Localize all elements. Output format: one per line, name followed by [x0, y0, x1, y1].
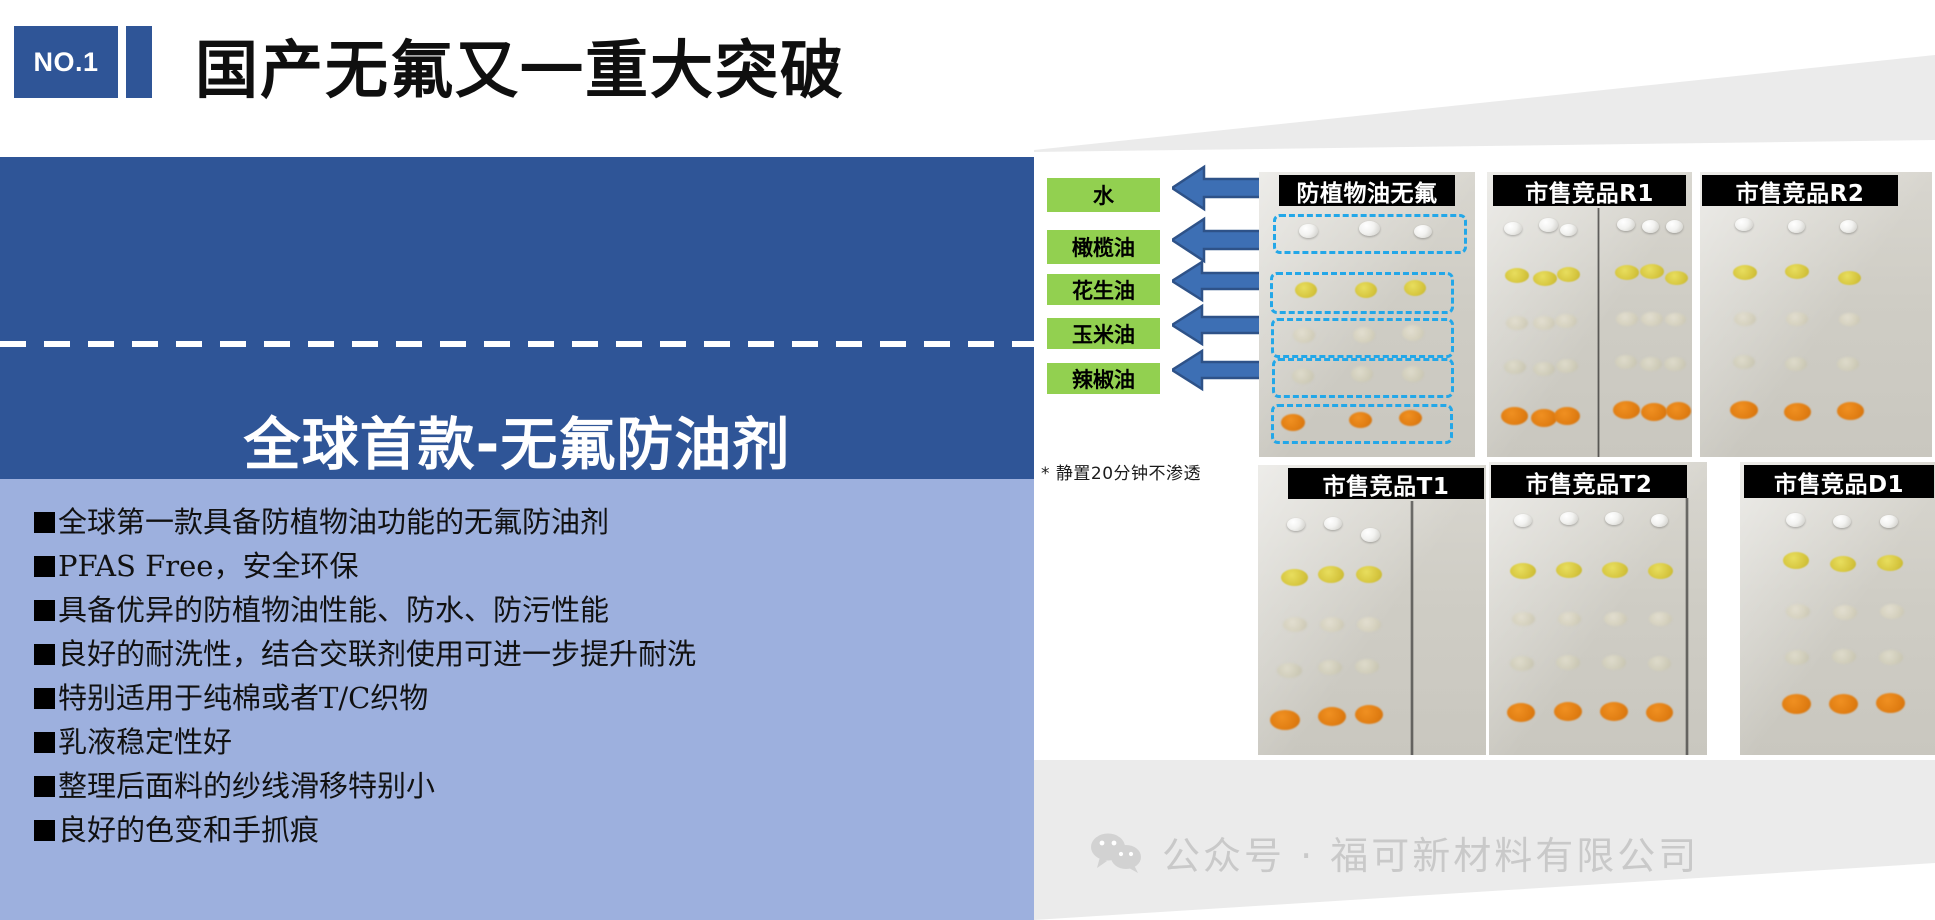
- droplet-water: [1833, 515, 1851, 528]
- feature-text: 特别适用于纯棉或者T/C织物: [58, 677, 428, 719]
- panel-title: 市售竞品T1: [1288, 468, 1484, 499]
- square-bullet-icon: [34, 688, 55, 709]
- droplet-corn: [1785, 650, 1809, 665]
- list-item: 良好的耐洗性，结合交联剂使用可进一步提升耐洗: [34, 633, 1024, 675]
- droplet-corn: [1556, 655, 1580, 670]
- droplet-water: [1287, 518, 1305, 531]
- list-item: 全球第一款具备防植物油功能的无氟防油剂: [34, 501, 1024, 543]
- feature-text: 良好的色变和手抓痕: [58, 809, 319, 851]
- droplet-olive: [1838, 271, 1861, 285]
- feature-text: 整理后面料的纱线滑移特别小: [58, 765, 435, 807]
- feature-text: 全球第一款具备防植物油功能的无氟防油剂: [58, 501, 609, 543]
- droplet-corn: [1640, 357, 1662, 371]
- droplet-corn: [1510, 656, 1534, 671]
- panel-seam: [1597, 208, 1600, 457]
- droplet-chili: [1507, 703, 1535, 722]
- page-title: 国产无氟又一重大突破: [195, 20, 845, 111]
- droplet-peanut: [1558, 612, 1581, 626]
- square-bullet-icon: [34, 644, 55, 665]
- droplet-olive: [1830, 556, 1856, 572]
- droplet-water: [1651, 514, 1668, 527]
- droplet-peanut: [1320, 617, 1344, 632]
- square-bullet-icon: [34, 820, 55, 841]
- droplet-corn: [1355, 659, 1379, 674]
- wechat-icon: [1090, 832, 1144, 874]
- droplet-olive: [1281, 569, 1308, 586]
- features-list: 全球第一款具备防植物油功能的无氟防油剂 PFAS Free，安全环保 具备优异的…: [34, 501, 1024, 853]
- test-panel-r2: 市售竞品R2: [1700, 172, 1932, 457]
- droplet-corn: [1277, 663, 1302, 678]
- droplet-chili: [1646, 703, 1673, 722]
- droplet-peanut: [1641, 312, 1663, 326]
- highlight-box-corn: [1272, 358, 1454, 398]
- highlight-box-olive: [1270, 272, 1454, 314]
- left-column: NO.1 国产无氟又一重大突破 全球首款-无氟防油剂 ECO-BARRIER X…: [0, 0, 1034, 920]
- droplet-peanut: [1839, 313, 1860, 326]
- list-item: 具备优异的防植物油性能、防水、防污性能: [34, 589, 1024, 631]
- droplet-water: [1840, 220, 1857, 233]
- droplet-water: [1786, 513, 1805, 527]
- droplet-chili: [1666, 402, 1691, 420]
- droplet-peanut: [1786, 312, 1808, 326]
- square-bullet-icon: [34, 776, 55, 797]
- test-panel-main: 防植物油无氟: [1259, 172, 1475, 457]
- highlight-box-peanut: [1271, 318, 1454, 358]
- droplet-peanut: [1555, 314, 1577, 328]
- footer: 公众号 · 福可新材料有限公司: [1090, 825, 1699, 880]
- panel-title: 防植物油无氟: [1279, 175, 1455, 206]
- square-bullet-icon: [34, 600, 55, 621]
- droplet-olive: [1510, 563, 1536, 579]
- droplet-chili: [1876, 693, 1905, 713]
- list-item: 良好的色变和手抓痕: [34, 809, 1024, 851]
- droplet-olive: [1877, 555, 1903, 571]
- highlight-box-water: [1273, 214, 1467, 254]
- footer-text: 公众号 · 福可新材料有限公司: [1162, 825, 1699, 880]
- list-item: 特别适用于纯棉或者T/C织物: [34, 677, 1024, 719]
- droplet-peanut: [1649, 612, 1672, 626]
- droplet-chili: [1554, 702, 1582, 721]
- droplet-chili: [1318, 707, 1346, 726]
- reagent-label-chili: 辣椒油: [1047, 363, 1160, 394]
- droplet-olive: [1556, 562, 1582, 578]
- droplet-peanut: [1283, 617, 1307, 632]
- list-item: PFAS Free，安全环保: [34, 545, 1024, 587]
- droplet-peanut: [1734, 312, 1756, 326]
- droplet-water: [1560, 512, 1578, 525]
- droplet-olive: [1783, 552, 1809, 569]
- highlight-box-chili: [1271, 404, 1453, 444]
- list-item: 乳液稳定性好: [34, 721, 1024, 763]
- droplet-olive: [1648, 563, 1673, 579]
- droplet-olive: [1505, 268, 1529, 283]
- droplet-water: [1605, 512, 1623, 525]
- features-panel: 全球第一款具备防植物油功能的无氟防油剂 PFAS Free，安全环保 具备优异的…: [0, 479, 1034, 920]
- droplet-corn: [1602, 655, 1626, 670]
- no1-badge-label: NO.1: [33, 47, 98, 78]
- test-panel-d1: 市售竞品D1: [1740, 462, 1935, 755]
- reagent-label-peanut: 花生油: [1047, 274, 1160, 305]
- droplet-corn: [1785, 357, 1807, 371]
- panel-title: 市售竞品R1: [1493, 175, 1686, 206]
- droplet-water: [1617, 218, 1635, 231]
- droplet-chili: [1829, 694, 1858, 714]
- test-panel-t1: 市售竞品T1: [1258, 465, 1486, 755]
- droplet-peanut: [1604, 612, 1627, 626]
- droplet-water: [1324, 517, 1342, 530]
- reagent-label-olive: 橄榄油: [1047, 230, 1160, 264]
- droplet-peanut: [1533, 316, 1555, 330]
- droplet-water: [1642, 220, 1659, 233]
- slide-root: NO.1 国产无氟又一重大突破 全球首款-无氟防油剂 ECO-BARRIER X…: [0, 0, 1935, 920]
- droplet-corn: [1837, 357, 1859, 371]
- test-panel-r1: 市售竞品R1: [1487, 172, 1692, 457]
- droplet-olive: [1640, 264, 1664, 279]
- droplet-peanut: [1506, 316, 1528, 330]
- droplet-corn: [1832, 649, 1856, 664]
- feature-text: 具备优异的防植物油性能、防水、防污性能: [58, 589, 609, 631]
- droplet-chili: [1837, 402, 1864, 420]
- droplet-corn: [1664, 357, 1686, 371]
- droplet-chili: [1600, 702, 1628, 721]
- test-panel-t2: 市售竞品T2: [1489, 462, 1707, 755]
- droplet-corn: [1533, 362, 1555, 376]
- droplet-water: [1539, 218, 1558, 232]
- header-strip: NO.1 国产无氟又一重大突破: [0, 0, 1034, 160]
- reagent-label-water: 水: [1047, 178, 1160, 212]
- droplet-corn: [1615, 355, 1637, 369]
- panel-title: 市售竞品T2: [1491, 465, 1687, 498]
- list-item: 整理后面料的纱线滑移特别小: [34, 765, 1024, 807]
- droplet-water: [1504, 222, 1522, 235]
- droplet-corn: [1556, 359, 1578, 373]
- droplet-chili: [1531, 409, 1557, 427]
- droplet-peanut: [1665, 313, 1686, 326]
- reagent-label-corn: 玉米油: [1047, 318, 1160, 349]
- test-footnote: * 静置20分钟不渗透: [1041, 459, 1201, 484]
- droplet-olive: [1665, 271, 1688, 285]
- droplet-peanut: [1616, 312, 1638, 326]
- droplet-chili: [1355, 705, 1383, 724]
- square-bullet-icon: [34, 732, 55, 753]
- feature-text: 乳液稳定性好: [58, 721, 232, 763]
- droplet-chili: [1613, 401, 1640, 419]
- droplet-corn: [1648, 656, 1671, 671]
- droplet-water: [1361, 528, 1380, 542]
- droplet-peanut: [1357, 617, 1381, 632]
- droplet-olive: [1615, 265, 1639, 280]
- square-bullet-icon: [34, 512, 55, 533]
- droplet-water: [1666, 220, 1683, 233]
- droplet-chili: [1270, 710, 1300, 730]
- dashed-rule-top: [0, 341, 1034, 347]
- droplet-chili: [1730, 401, 1758, 419]
- droplet-chili: [1784, 403, 1811, 421]
- panel-title: 市售竞品R2: [1702, 175, 1898, 206]
- droplet-water: [1514, 514, 1532, 527]
- droplet-olive: [1356, 566, 1382, 583]
- droplet-olive: [1733, 265, 1757, 280]
- droplet-chili: [1501, 407, 1528, 425]
- feature-text: PFAS Free，安全环保: [58, 545, 358, 587]
- droplet-water: [1880, 515, 1898, 528]
- droplet-peanut: [1833, 605, 1857, 620]
- droplet-chili: [1782, 694, 1811, 714]
- droplet-olive: [1602, 562, 1628, 578]
- droplet-corn: [1318, 660, 1342, 675]
- droplet-olive: [1557, 267, 1580, 282]
- droplet-corn: [1733, 355, 1755, 369]
- droplet-corn: [1879, 650, 1903, 665]
- droplet-water: [1735, 218, 1753, 231]
- no1-badge: NO.1: [14, 26, 118, 98]
- panel-seam: [1685, 498, 1689, 755]
- panel-seam: [1410, 501, 1414, 755]
- droplet-olive: [1318, 566, 1344, 583]
- square-bullet-icon: [34, 556, 55, 577]
- panel-title: 市售竞品D1: [1744, 465, 1934, 498]
- droplet-water: [1560, 224, 1577, 236]
- droplet-chili: [1554, 407, 1580, 425]
- droplet-olive: [1533, 271, 1557, 286]
- droplet-peanut: [1512, 612, 1535, 626]
- droplet-water: [1788, 220, 1805, 233]
- droplet-peanut: [1880, 604, 1904, 619]
- droplet-peanut: [1786, 604, 1810, 619]
- droplet-olive: [1785, 264, 1809, 279]
- header-accent-bar: [126, 26, 152, 98]
- product-title-cn: 全球首款-无氟防油剂: [0, 399, 1034, 481]
- feature-text: 良好的耐洗性，结合交联剂使用可进一步提升耐洗: [58, 633, 696, 675]
- product-band: 全球首款-无氟防油剂 ECO-BARRIER X-8801: [0, 159, 1034, 479]
- droplet-chili: [1641, 403, 1667, 421]
- droplet-corn: [1504, 360, 1526, 374]
